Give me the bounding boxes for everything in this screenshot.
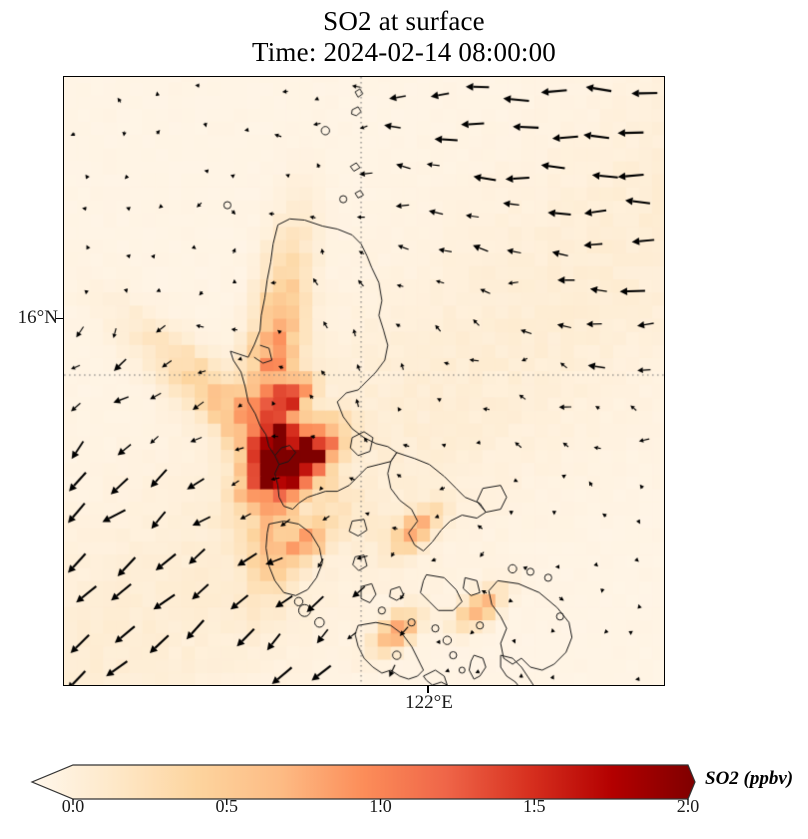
latitude-tick-label-16n: 16°N [6,307,58,329]
colorbar-axis-label: SO2 (ppbv) [705,768,793,790]
colorbar-tick-label: 1.5 [504,796,564,817]
map-axes[interactable] [63,76,665,686]
title-line-time: Time: 2024-02-14 08:00:00 [0,37,808,68]
so2-surface-heatmap[interactable] [64,77,664,685]
latitude-tick-mark [56,318,63,320]
colorbar-tick-label: 1.0 [351,796,411,817]
colorbar-tick-label: 0.0 [43,796,103,817]
colorbar-tick-label: 2.0 [658,796,718,817]
longitude-tick-mark [427,686,429,693]
longitude-tick-label-122e: 122°E [397,692,461,714]
colorbar[interactable]: SO2 (ppbv) 0.00.51.01.52.0 [0,757,808,837]
colorbar-tick-label: 0.5 [197,796,257,817]
figure-title: SO2 at surface Time: 2024-02-14 08:00:00 [0,6,808,68]
title-line-variable: SO2 at surface [323,6,485,36]
